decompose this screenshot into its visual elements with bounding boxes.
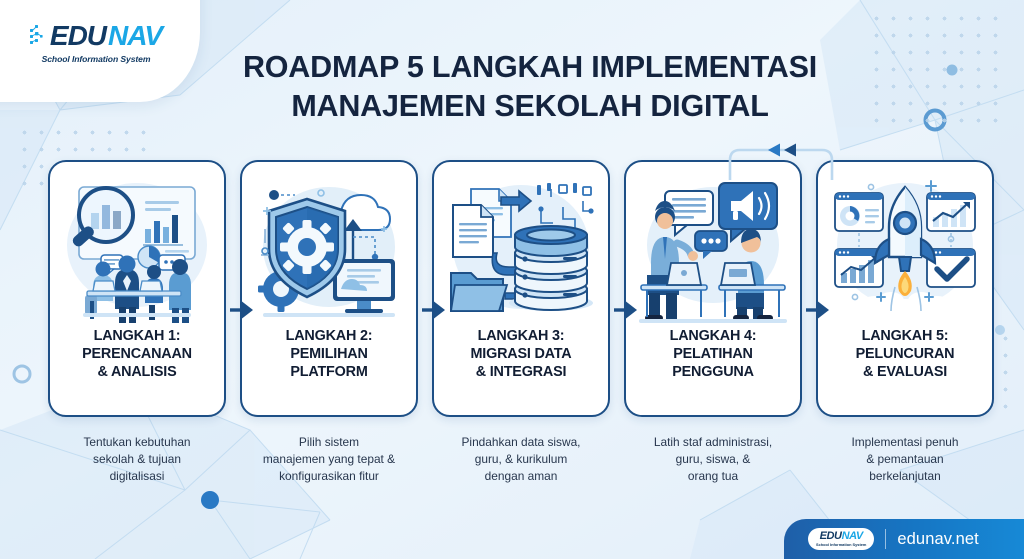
page-title-line-2: MANAJEMEN SEKOLAH DIGITAL (160, 87, 900, 126)
footer-bar: EDUNAV School Information System edunav.… (784, 519, 1024, 559)
step-1-title-line-3: & ANALISIS (82, 363, 192, 381)
footer-logo-tagline: School Information System (816, 543, 866, 547)
step-2-desc-line-1: Pilih sistem (241, 434, 417, 451)
step-1-card[interactable]: LANGKAH 1: PERENCANAAN & ANALISIS (48, 160, 226, 417)
step-5-title-line-3: & EVALUASI (856, 363, 955, 381)
step-4-title-line-1: LANGKAH 4: (670, 327, 757, 345)
step-4-title-line-3: PENGGUNA (670, 363, 757, 381)
step-1-desc-line-1: Tentukan kebutuhan (49, 434, 225, 451)
trainer-trainee-megaphone-laptops-icon (633, 171, 793, 323)
step-5[interactable]: LANGKAH 5: PELUNCURAN & EVALUASI Impleme… (816, 160, 994, 485)
documents-folder-database-migration-icon (441, 171, 601, 323)
step-2-title-line-1: LANGKAH 2: (286, 327, 373, 345)
step-3-desc-line-2: guru, & kurikulum (433, 451, 609, 468)
step-3[interactable]: LANGKAH 3: MIGRASI DATA & INTEGRASI Pind… (432, 160, 610, 485)
footer-website-url[interactable]: edunav.net (897, 530, 978, 549)
step-3-description: Pindahkan data siswa, guru, & kurikulum … (432, 434, 610, 485)
arrow-right-icon-1 (228, 297, 254, 323)
step-5-desc-line-3: berkelanjutan (817, 468, 993, 485)
step-5-desc-line-1: Implementasi penuh (817, 434, 993, 451)
step-3-title: LANGKAH 3: MIGRASI DATA & INTEGRASI (465, 327, 578, 381)
step-5-card[interactable]: LANGKAH 5: PELUNCURAN & EVALUASI (816, 160, 994, 417)
rocket-launch-dashboards-check-icon (825, 171, 985, 323)
step-4-description: Latih staf administrasi, guru, siswa, & … (624, 434, 802, 485)
shield-gear-cloud-monitor-icon (249, 171, 409, 323)
logo-tagline: School Information System (16, 54, 176, 64)
step-2-description: Pilih sistem manajemen yang tepat & konf… (240, 434, 418, 485)
pixel-network-icon (30, 25, 46, 47)
step-5-title: LANGKAH 5: PELUNCURAN & EVALUASI (850, 327, 961, 381)
step-2-title: LANGKAH 2: PEMILIHAN PLATFORM (280, 327, 379, 381)
arrow-right-icon-4 (804, 297, 830, 323)
step-2[interactable]: LANGKAH 2: PEMILIHAN PLATFORM Pilih sist… (240, 160, 418, 485)
footer-logo-badge: EDUNAV School Information System (808, 528, 874, 551)
step-2-card[interactable]: LANGKAH 2: PEMILIHAN PLATFORM (240, 160, 418, 417)
step-5-desc-line-2: & pemantauan (817, 451, 993, 468)
team-analysis-magnifier-charts-icon (57, 171, 217, 323)
step-2-title-line-3: PLATFORM (286, 363, 373, 381)
step-4[interactable]: LANGKAH 4: PELATIHAN PENGGUNA Latih staf… (624, 160, 802, 485)
footer-logo-edu: EDU (820, 530, 842, 542)
step-4-desc-line-2: guru, siswa, & (625, 451, 801, 468)
logo-text-nav: NAV (108, 22, 162, 50)
step-1-title: LANGKAH 1: PERENCANAAN & ANALISIS (76, 327, 198, 381)
feedback-loop-connector (726, 142, 836, 182)
step-1-desc-line-2: sekolah & tujuan (49, 451, 225, 468)
step-1-desc-line-3: digitalisasi (49, 468, 225, 485)
footer-divider (885, 529, 886, 549)
logo-text-edu: EDU (50, 22, 106, 50)
step-4-title: LANGKAH 4: PELATIHAN PENGGUNA (664, 327, 763, 381)
step-3-desc-line-1: Pindahkan data siswa, (433, 434, 609, 451)
arrow-right-icon-2 (420, 297, 446, 323)
step-4-desc-line-3: orang tua (625, 468, 801, 485)
step-1-title-line-1: LANGKAH 1: (82, 327, 192, 345)
step-2-desc-line-3: konfigurasikan fitur (241, 468, 417, 485)
step-3-title-line-1: LANGKAH 3: (471, 327, 572, 345)
step-4-title-line-2: PELATIHAN (670, 345, 757, 363)
step-3-desc-line-3: dengan aman (433, 468, 609, 485)
footer-logo-nav: NAV (842, 530, 863, 542)
step-5-title-line-1: LANGKAH 5: (856, 327, 955, 345)
step-1-title-line-2: PERENCANAAN (82, 345, 192, 363)
step-3-title-line-3: & INTEGRASI (471, 363, 572, 381)
step-5-description: Implementasi penuh & pemantauan berkelan… (816, 434, 994, 485)
step-3-title-line-2: MIGRASI DATA (471, 345, 572, 363)
roadmap-steps: LANGKAH 1: PERENCANAAN & ANALISIS Tentuk… (0, 160, 1024, 510)
brand-logo: EDU NAV School Information System (16, 22, 176, 64)
step-3-card[interactable]: LANGKAH 3: MIGRASI DATA & INTEGRASI (432, 160, 610, 417)
page-title-line-1: ROADMAP 5 LANGKAH IMPLEMENTASI (160, 48, 900, 87)
step-1[interactable]: LANGKAH 1: PERENCANAAN & ANALISIS Tentuk… (48, 160, 226, 485)
step-2-title-line-2: PEMILIHAN (286, 345, 373, 363)
step-5-title-line-2: PELUNCURAN (856, 345, 955, 363)
step-2-desc-line-2: manajemen yang tepat & (241, 451, 417, 468)
step-4-desc-line-1: Latih staf administrasi, (625, 434, 801, 451)
page-title: ROADMAP 5 LANGKAH IMPLEMENTASI MANAJEMEN… (160, 48, 900, 126)
step-4-card[interactable]: LANGKAH 4: PELATIHAN PENGGUNA (624, 160, 802, 417)
arrow-right-icon-3 (612, 297, 638, 323)
step-1-description: Tentukan kebutuhan sekolah & tujuan digi… (48, 434, 226, 485)
